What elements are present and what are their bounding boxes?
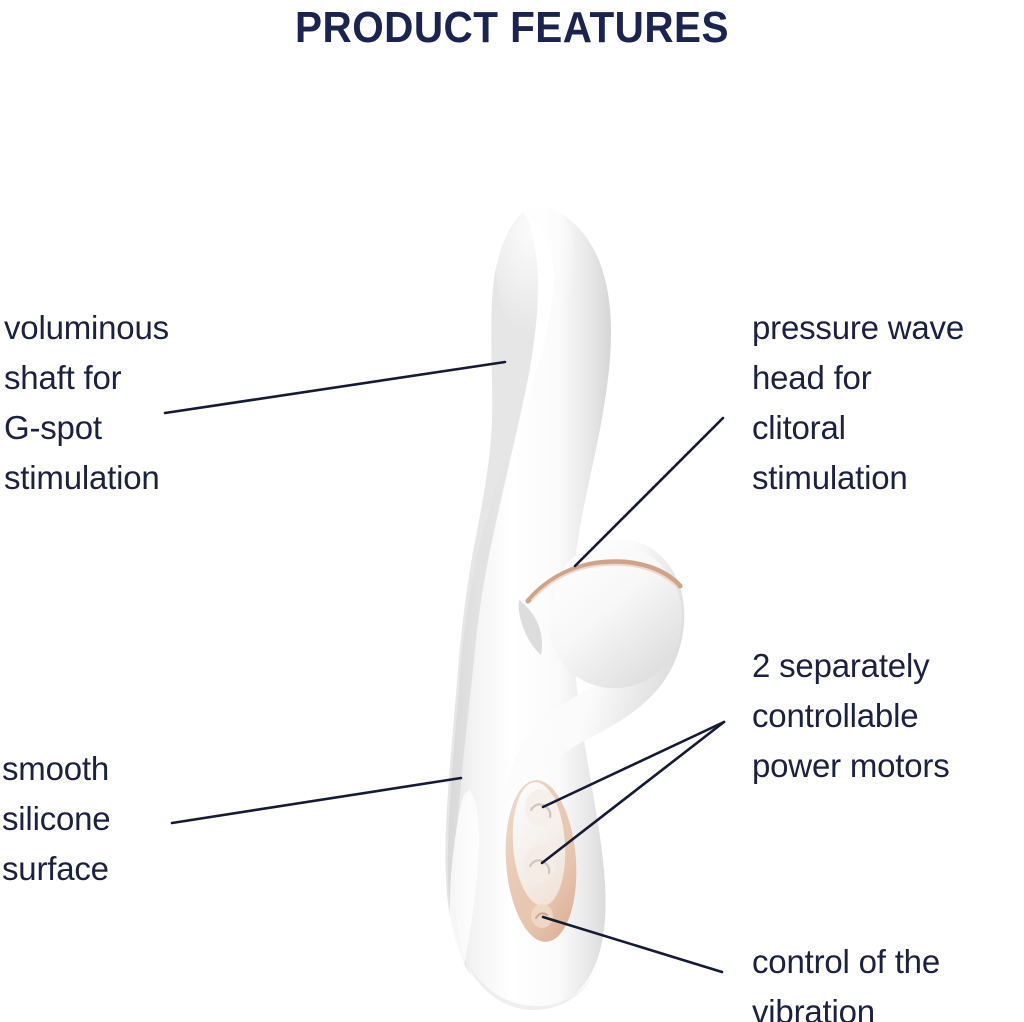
callout-voluminous-shaft: voluminous shaft for G-spot stimulation (4, 303, 169, 503)
callout-line: 2 separately (752, 641, 950, 691)
product-body (445, 196, 684, 1010)
product-illustration (0, 0, 1024, 1022)
callout-line: clitoral (752, 403, 964, 453)
leader-voluminous-shaft (165, 362, 505, 413)
callout-line: controllable (752, 691, 950, 741)
callout-line: silicone (2, 794, 110, 844)
callout-line: voluminous (4, 303, 169, 353)
callout-line: stimulation (752, 453, 964, 503)
callout-pressure-wave-head: pressure wave head for clitoral stimulat… (752, 303, 964, 503)
callout-line: smooth (2, 744, 110, 794)
callout-line: surface (2, 844, 110, 894)
callout-line: pressure wave (752, 303, 964, 353)
tip-highlight (496, 196, 576, 340)
vibration-button[interactable] (531, 904, 553, 928)
callout-smooth-silicone: smooth silicone surface (2, 744, 110, 894)
motor-button-upper[interactable] (525, 789, 557, 827)
callout-line: control of the (752, 937, 940, 987)
product-features-page: PRODUCT FEATURES (0, 0, 1024, 1022)
callout-power-motors: 2 separately controllable power motors (752, 641, 950, 791)
callout-line: shaft for (4, 353, 169, 403)
callout-line: head for (752, 353, 964, 403)
leader-smooth-silicone (172, 778, 461, 823)
callout-line: G-spot (4, 403, 169, 453)
callout-vibration-control: control of the vibration (752, 937, 940, 1022)
motor-button-lower[interactable] (524, 845, 556, 883)
callout-line: stimulation (4, 453, 169, 503)
callout-line: vibration (752, 987, 940, 1022)
callout-line: power motors (752, 741, 950, 791)
